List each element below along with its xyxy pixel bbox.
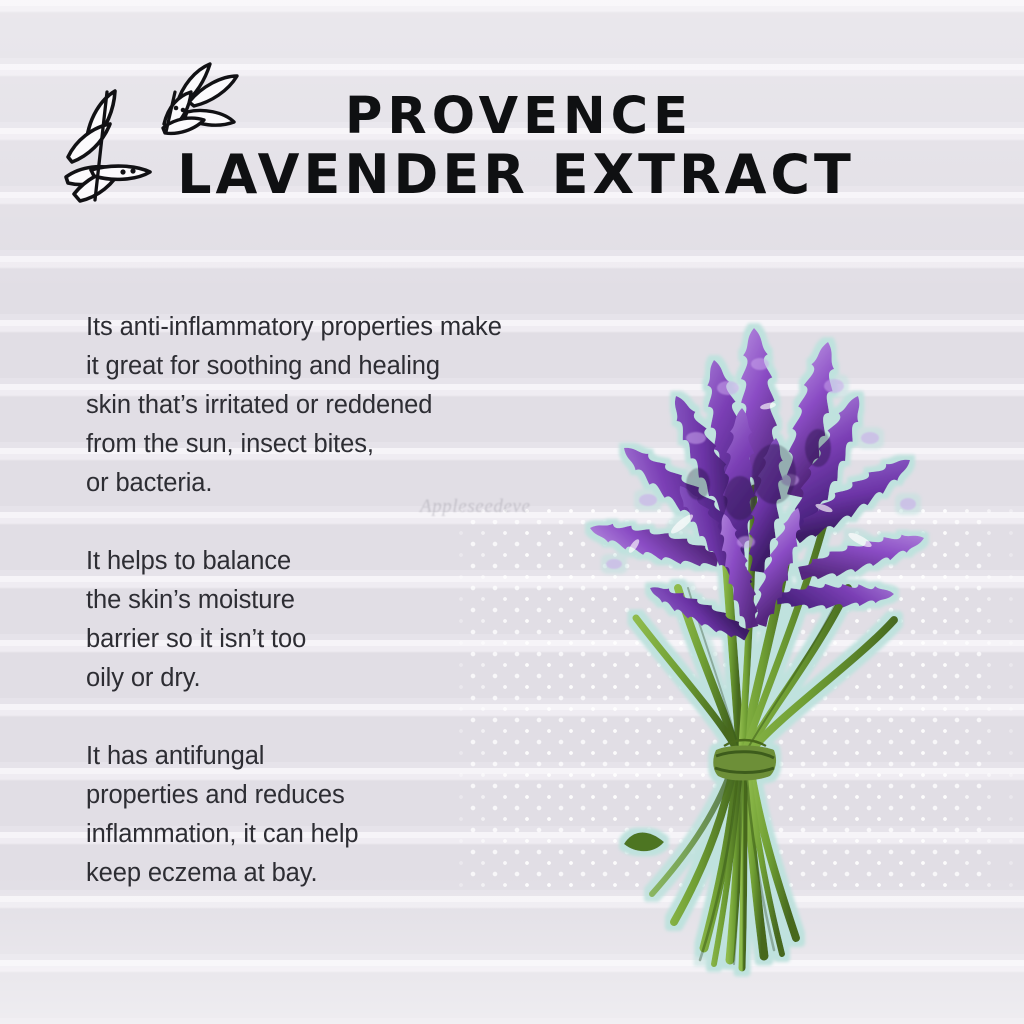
stem-leaf <box>624 832 664 851</box>
page-title: Provence Lavender Extract <box>0 88 1024 206</box>
title-line-two: Lavender Extract <box>0 145 1024 205</box>
lavender-extract-infographic-poster: Appleseedeve <box>0 0 1024 1024</box>
lavender-bouquet-image <box>528 288 1024 988</box>
bouquet-sticker-shape <box>587 327 928 968</box>
title-line-one: Provence <box>0 88 1024 145</box>
twine-tie <box>713 740 776 781</box>
